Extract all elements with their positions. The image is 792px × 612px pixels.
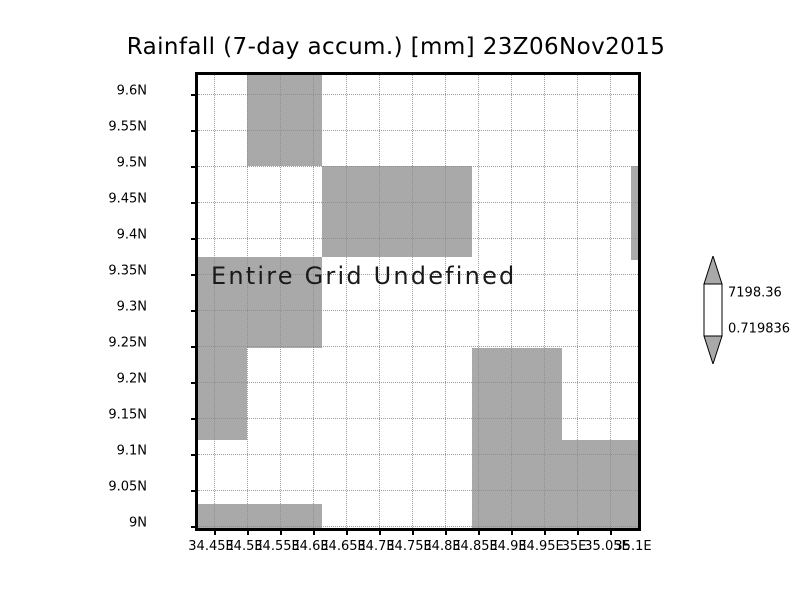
gridline-horizontal xyxy=(198,454,638,455)
y-axis-tick xyxy=(191,166,198,168)
colorbar-lower-arrow xyxy=(704,336,722,364)
gridline-vertical xyxy=(412,75,413,528)
y-axis-label: 9N xyxy=(129,516,147,531)
gridline-vertical xyxy=(544,75,545,528)
y-axis-label: 9.55N xyxy=(108,120,147,135)
x-axis-label: 34.95E xyxy=(518,539,563,554)
y-axis-label: 9.05N xyxy=(108,480,147,495)
x-axis-tick xyxy=(313,528,315,535)
y-axis-tick xyxy=(191,310,198,312)
y-axis-label: 9.35N xyxy=(108,264,147,279)
y-axis-label: 9.4N xyxy=(117,228,147,243)
y-axis-tick xyxy=(191,490,198,492)
undefined-block xyxy=(631,166,638,260)
y-axis-tick xyxy=(191,526,198,528)
gridline-horizontal xyxy=(198,346,638,347)
plot-canvas: Rainfall (7-day accum.) [mm] 23Z06Nov201… xyxy=(0,0,792,612)
x-axis-label: 35E xyxy=(562,539,587,554)
gridline-horizontal xyxy=(198,202,638,203)
y-axis-label: 9.15N xyxy=(108,408,147,423)
x-axis-tick xyxy=(280,528,282,535)
gridline-vertical xyxy=(214,75,215,528)
y-axis-label: 9.1N xyxy=(117,444,147,459)
gridline-vertical xyxy=(346,75,347,528)
y-axis-tick xyxy=(191,382,198,384)
colorbar-high-label: 7198.36 xyxy=(728,286,782,301)
colorbar[interactable]: 7198.36 0.719836 xyxy=(700,256,726,364)
gridline-vertical xyxy=(280,75,281,528)
y-axis-tick xyxy=(191,418,198,420)
y-axis-tick xyxy=(191,94,198,96)
gridline-horizontal xyxy=(198,94,638,95)
undefined-block xyxy=(198,348,247,440)
y-axis-label: 9.2N xyxy=(117,372,147,387)
y-axis-tick xyxy=(191,130,198,132)
gridline-horizontal xyxy=(198,130,638,131)
colorbar-upper-arrow xyxy=(704,256,722,284)
x-axis-label: 35.1E xyxy=(614,539,651,554)
gridline-horizontal xyxy=(198,418,638,419)
y-axis-label: 9.45N xyxy=(108,192,147,207)
y-axis-tick xyxy=(191,238,198,240)
colorbar-middle-band xyxy=(704,284,722,336)
y-axis-tick xyxy=(191,346,198,348)
undefined-block xyxy=(247,75,322,166)
x-axis-tick xyxy=(610,528,612,535)
y-axis-label: 9.25N xyxy=(108,336,147,351)
gridline-horizontal xyxy=(198,166,638,167)
x-axis-tick xyxy=(346,528,348,535)
x-axis-tick xyxy=(511,528,513,535)
plot-area xyxy=(195,72,641,531)
gridline-horizontal xyxy=(198,310,638,311)
gridline-horizontal xyxy=(198,238,638,239)
x-axis-tick xyxy=(412,528,414,535)
gridline-vertical xyxy=(511,75,512,528)
y-axis-label: 9.3N xyxy=(117,300,147,315)
y-axis-label: 9.5N xyxy=(117,156,147,171)
plot-clip xyxy=(198,75,638,528)
y-axis-tick xyxy=(191,454,198,456)
x-axis-tick xyxy=(445,528,447,535)
gridline-vertical xyxy=(379,75,380,528)
y-axis-tick xyxy=(191,202,198,204)
gridline-horizontal xyxy=(198,382,638,383)
colorbar-shape xyxy=(700,256,726,364)
gridline-vertical xyxy=(577,75,578,528)
gridline-horizontal xyxy=(198,526,638,527)
gridline-vertical xyxy=(478,75,479,528)
x-axis-tick xyxy=(379,528,381,535)
gridline-vertical xyxy=(247,75,248,528)
y-axis-tick xyxy=(191,274,198,276)
page-title: Rainfall (7-day accum.) [mm] 23Z06Nov201… xyxy=(0,34,792,60)
gridline-vertical xyxy=(313,75,314,528)
undefined-block xyxy=(322,166,472,257)
x-axis-tick xyxy=(478,528,480,535)
undefined-block xyxy=(198,504,322,528)
x-axis-tick xyxy=(214,528,216,535)
undefined-grid-annotation: Entire Grid Undefined xyxy=(211,262,517,290)
x-axis-tick xyxy=(577,528,579,535)
y-axis-label: 9.6N xyxy=(117,84,147,99)
undefined-block xyxy=(472,348,562,440)
gridline-horizontal xyxy=(198,490,638,491)
gridline-vertical xyxy=(610,75,611,528)
x-axis-tick xyxy=(247,528,249,535)
x-axis-tick xyxy=(544,528,546,535)
gridline-vertical xyxy=(445,75,446,528)
colorbar-low-label: 0.719836 xyxy=(728,322,790,337)
